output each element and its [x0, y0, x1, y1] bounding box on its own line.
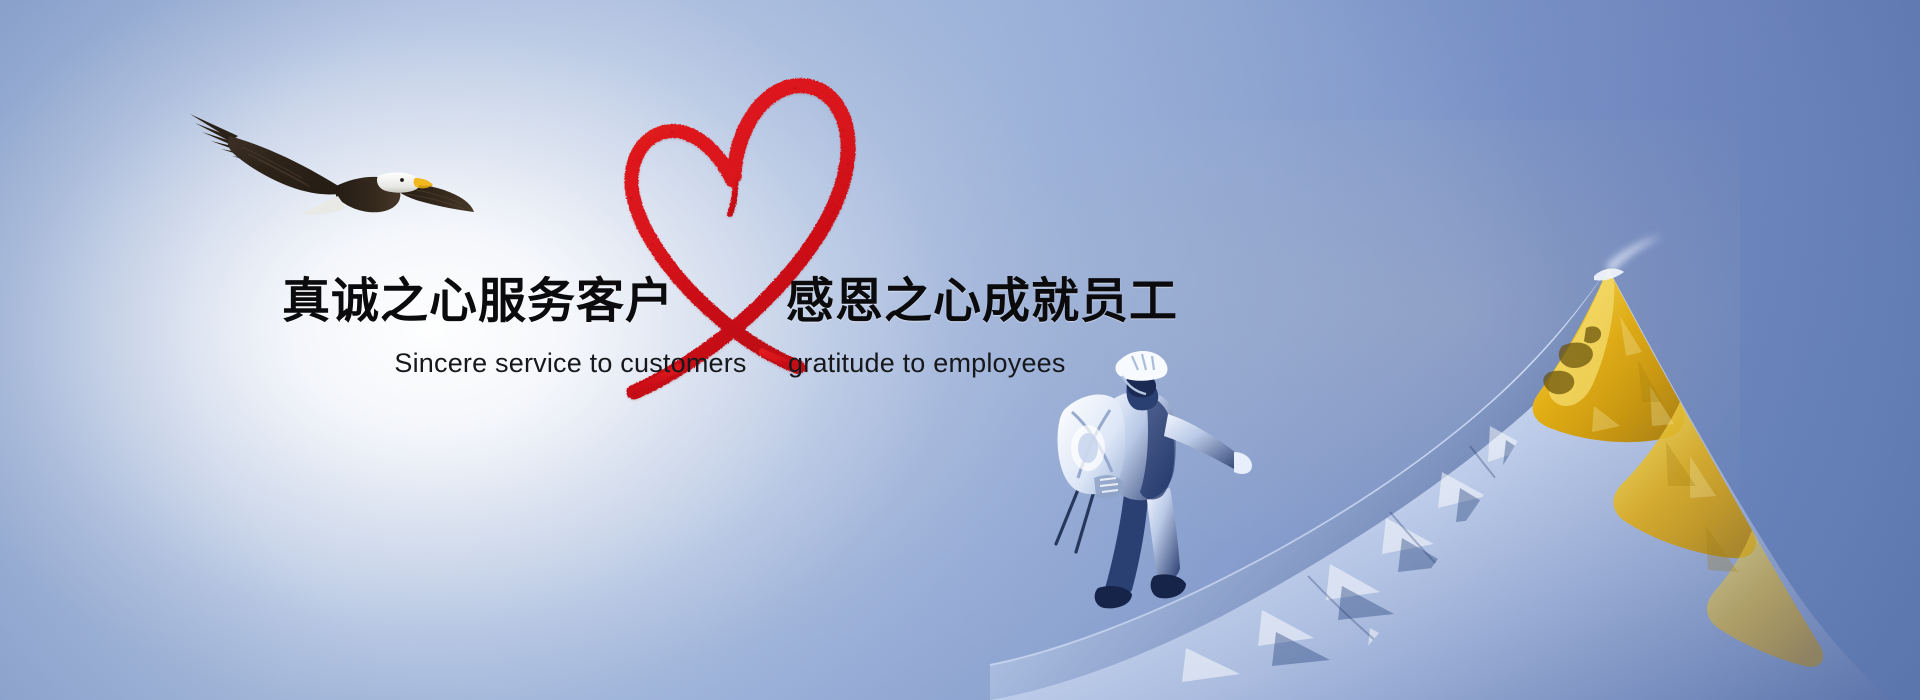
mountain-peak-icon	[990, 196, 1920, 700]
heart-brush-icon	[612, 64, 880, 409]
climber-icon	[1056, 351, 1252, 608]
hero-banner: 真诚之心服务客户 感恩之心成就员工 Sincere service to cus…	[0, 0, 1920, 700]
eagle-icon	[186, 96, 476, 218]
